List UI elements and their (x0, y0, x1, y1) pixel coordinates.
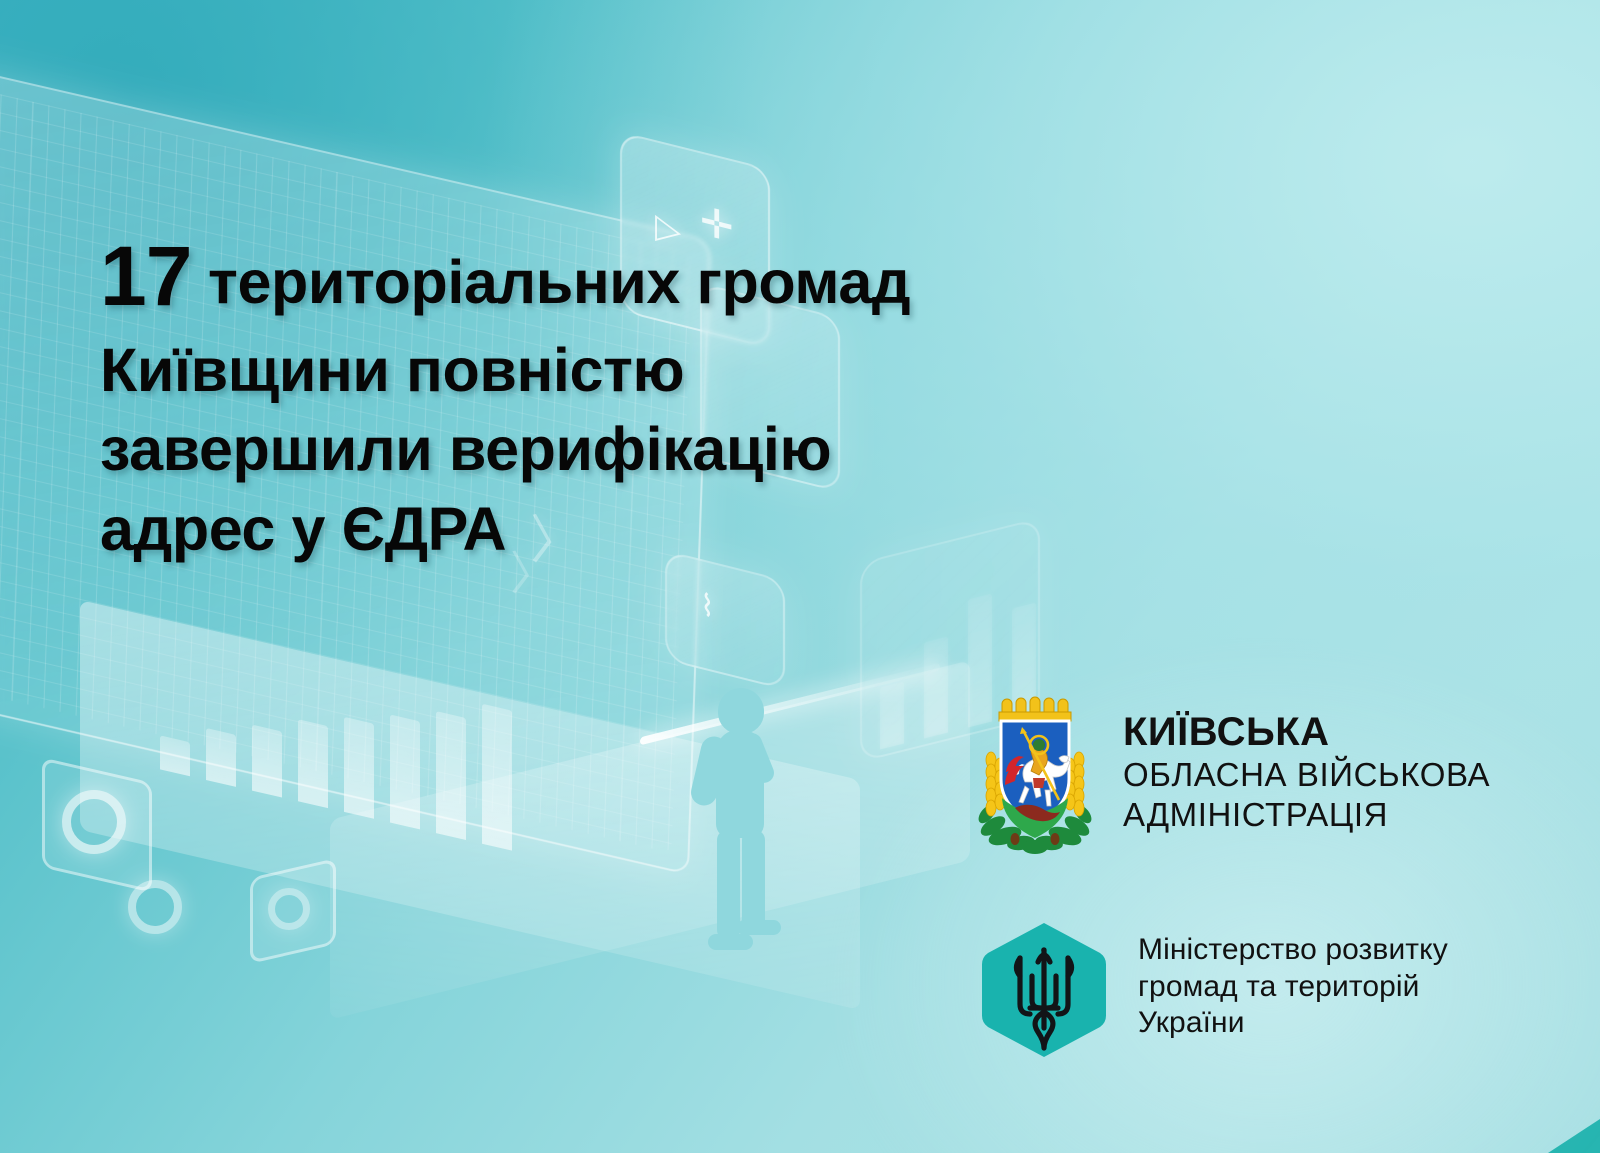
ministry-line-1: Міністерство розвитку (1138, 932, 1448, 969)
ministry-line-2: громад та територій (1138, 969, 1448, 1006)
headline-line-1: 17 територіальних громад (100, 222, 1060, 331)
chart-bar (298, 719, 328, 808)
kyiv-oblast-coat-of-arms-icon (975, 690, 1095, 860)
desk-surface-top (80, 600, 860, 1010)
headline-number: 17 (100, 229, 191, 323)
kova-title-line-1: КИЇВСЬКА (1123, 710, 1490, 755)
person-silhouette (690, 688, 800, 963)
ministry-line-3: України (1138, 1005, 1448, 1042)
ring-icon-b (128, 880, 182, 934)
headline-line-2: Київщини повністю (100, 331, 1060, 410)
desk-surface-front (330, 660, 970, 1020)
ministry-name-text: Міністерство розвитку громад та територі… (1138, 920, 1448, 1042)
page-title: 17 територіальних громад Київщини повніс… (100, 222, 1060, 569)
ukraine-trident-hexagon-icon (980, 920, 1108, 1060)
kova-title-line-2: ОБЛАСНА ВІЙСЬКОВА (1123, 755, 1490, 795)
poster-canvas: ▷ ✛ ⌇ 〉 〉 17 територіальних громад Київщ… (0, 0, 1600, 1153)
node-icon: ⌇ (700, 590, 715, 624)
chart-bar (436, 711, 466, 840)
desk-highlight-edge (640, 663, 940, 746)
chart-bar (880, 681, 904, 749)
ring-icon-c (268, 888, 310, 930)
chart-bar (206, 728, 236, 787)
chart-bar (344, 717, 374, 819)
headline-line-1-rest: територіальних громад (191, 248, 910, 316)
headline-line-3: завершили верифікацію (100, 410, 1060, 489)
chart-bar (390, 714, 420, 829)
kova-title-line-3: АДМІНІСТРАЦІЯ (1123, 795, 1490, 835)
chart-bar (482, 704, 512, 851)
ring-icon-a (62, 790, 126, 854)
kyiv-oblast-administration-text: КИЇВСЬКА ОБЛАСНА ВІЙСЬКОВА АДМІНІСТРАЦІЯ (1123, 690, 1490, 835)
kyiv-oblast-administration-logo: КИЇВСЬКА ОБЛАСНА ВІЙСЬКОВА АДМІНІСТРАЦІЯ (975, 690, 1490, 860)
corner-accent-wedge (1548, 1119, 1600, 1153)
chart-bar (160, 735, 190, 776)
floating-panel-c (665, 550, 785, 690)
headline-line-4: адрес у ЄДРА (100, 490, 1060, 569)
ministry-logo: Міністерство розвитку громад та територі… (980, 920, 1448, 1060)
chart-bar (924, 636, 948, 738)
chart-bar (252, 725, 282, 798)
icon-tile-a (42, 757, 152, 892)
icon-tile-b (250, 858, 336, 964)
